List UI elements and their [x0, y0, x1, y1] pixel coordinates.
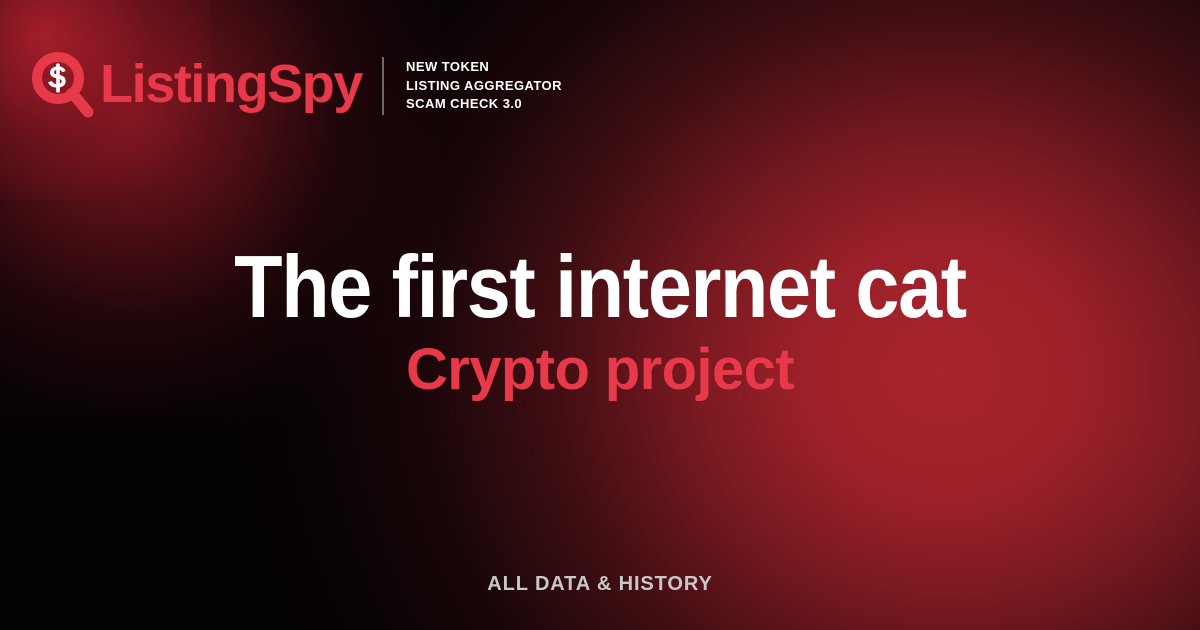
header-divider	[382, 57, 384, 115]
tagline-line-3: SCAM CHECK 3.0	[406, 95, 562, 114]
promo-banner: ListingSpy NEW TOKEN LISTING AGGREGATOR …	[0, 0, 1200, 630]
brand-wordmark: ListingSpy	[100, 57, 362, 111]
hero-headline: The first internet cat	[60, 246, 1140, 329]
brand-tagline: NEW TOKEN LISTING AGGREGATOR SCAM CHECK …	[406, 58, 562, 115]
tagline-line-2: LISTING AGGREGATOR	[406, 77, 562, 96]
tagline-line-1: NEW TOKEN	[406, 58, 562, 77]
magnifier-dollar-icon	[32, 52, 94, 120]
footer-label: ALL DATA & HISTORY	[0, 573, 1200, 596]
hero-subheadline: Crypto project	[0, 339, 1200, 400]
brand-header: ListingSpy NEW TOKEN LISTING AGGREGATOR …	[32, 52, 562, 120]
hero-block: The first internet cat Crypto project	[0, 246, 1200, 400]
